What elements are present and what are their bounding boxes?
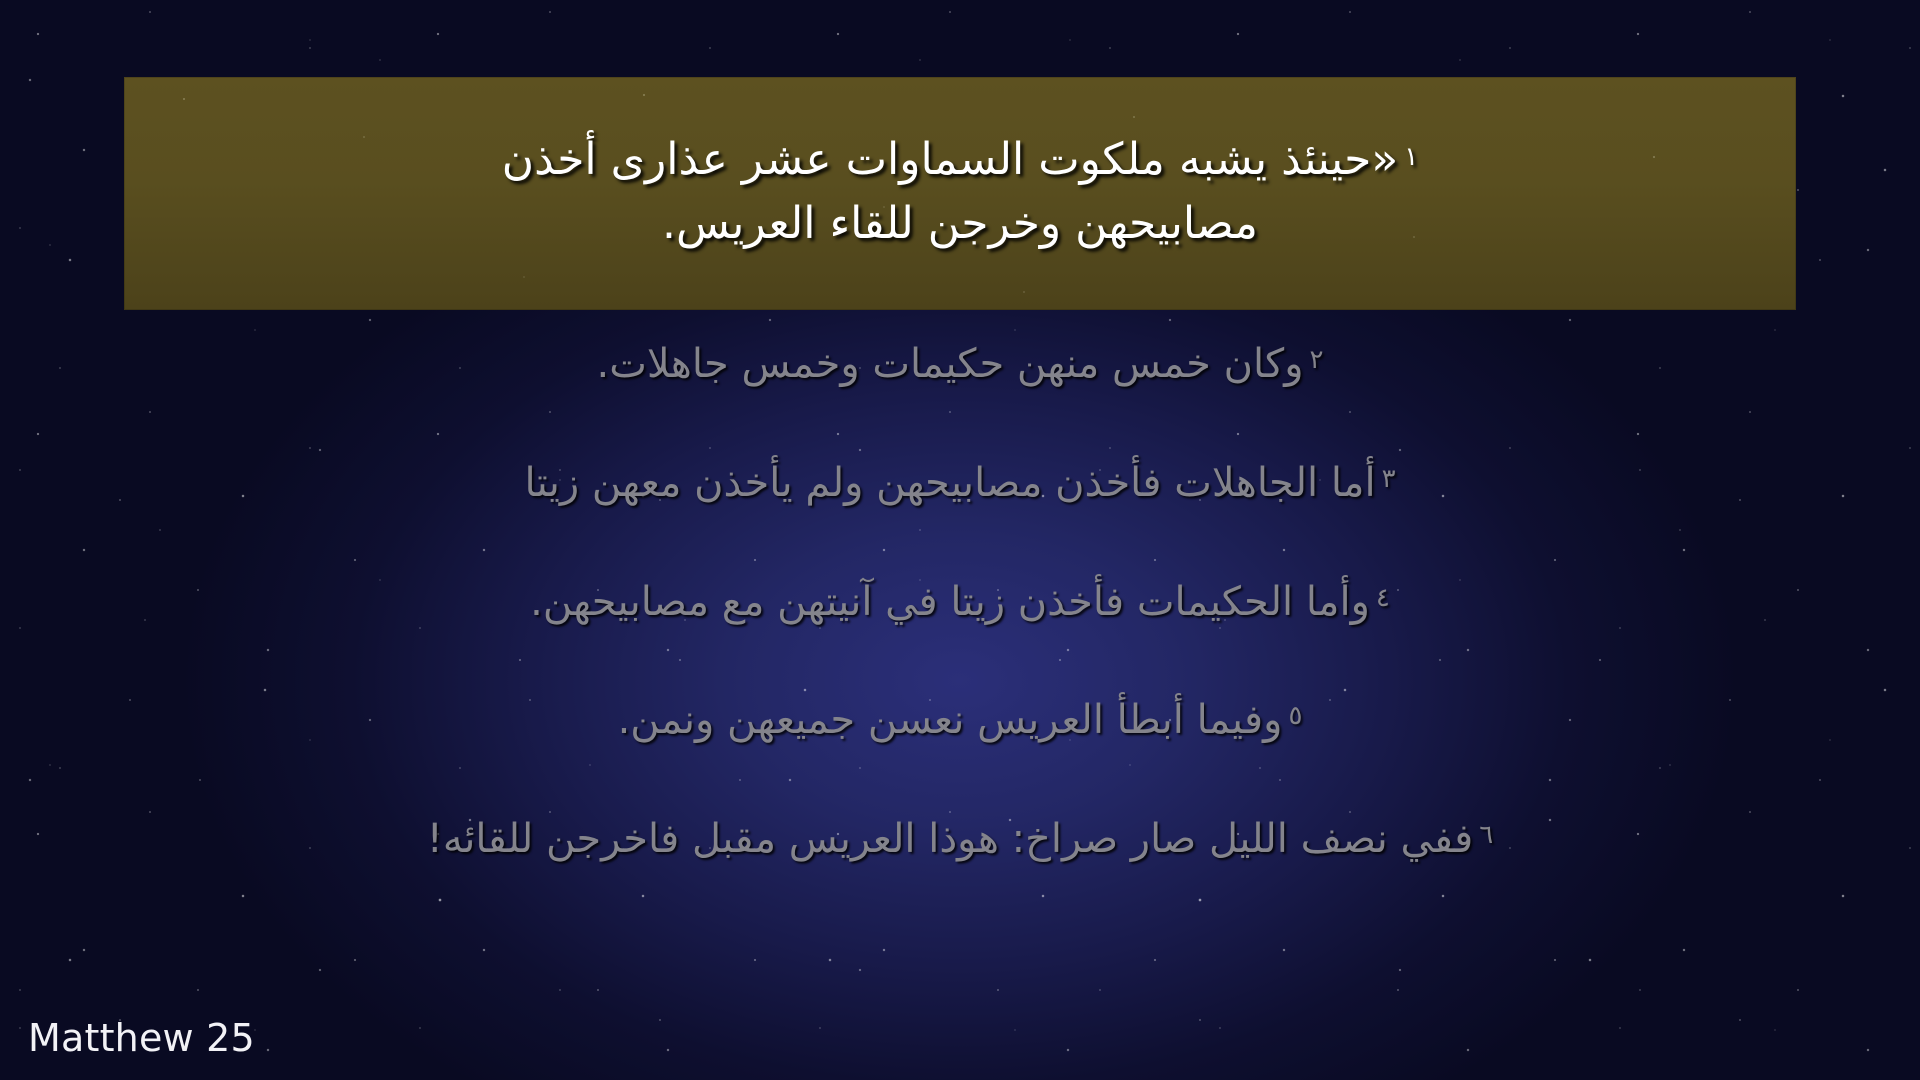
verse-text-3: أما الجاهلات فأخذن مصابيحهن ولم يأخذن مع… [524, 460, 1375, 506]
verse-number-3: ٣ [1376, 464, 1396, 494]
verse-number-2: ٢ [1304, 345, 1324, 375]
verse-line-6[interactable]: ٦ففي نصف الليل صار صراخ: هوذا العريس مقب… [0, 811, 1920, 868]
verse-line-2[interactable]: ٢وكان خمس منهن حكيمات وخمس جاهلات. [0, 336, 1920, 393]
verse-number-4: ٤ [1370, 583, 1390, 613]
verse-text-5: وفيما أبطأ العريس نعسن جميعهن ونمن. [618, 697, 1283, 743]
active-verse-spacer [0, 0, 1920, 310]
verse-list: ٢وكان خمس منهن حكيمات وخمس جاهلات. ٣أما … [0, 0, 1920, 1010]
verse-line-5[interactable]: ٥وفيما أبطأ العريس نعسن جميعهن ونمن. [0, 692, 1920, 749]
scripture-reference: Matthew 25 [28, 1016, 255, 1060]
verse-number-6: ٦ [1473, 820, 1493, 850]
verse-line-4[interactable]: ٤وأما الحكيمات فأخذن زيتا في آنيتهن مع م… [0, 574, 1920, 631]
scripture-slide: ١«حينئذ يشبه ملكوت السماوات عشر عذارى أخ… [0, 0, 1920, 1080]
verse-number-5: ٥ [1282, 701, 1302, 731]
verse-text-4: وأما الحكيمات فأخذن زيتا في آنيتهن مع مص… [530, 579, 1370, 625]
verse-text-2: وكان خمس منهن حكيمات وخمس جاهلات. [597, 341, 1304, 387]
verse-text-6: ففي نصف الليل صار صراخ: هوذا العريس مقبل… [427, 816, 1473, 862]
verse-line-3[interactable]: ٣أما الجاهلات فأخذن مصابيحهن ولم يأخذن م… [0, 455, 1920, 512]
